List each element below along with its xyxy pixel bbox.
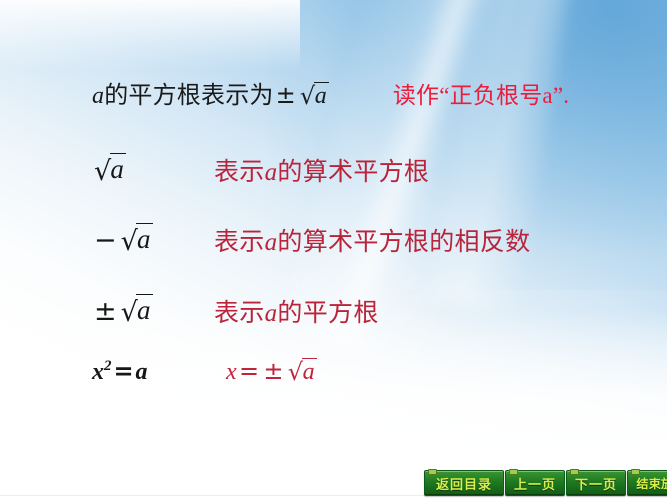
definition-row-negative-root: −√a 表示a的算术平方根的相反数 <box>92 222 662 258</box>
symbol-negative-sqrt-a: −√a <box>92 225 210 256</box>
definition-row-arithmetic-root: √a 表示a的算术平方根 <box>92 152 662 188</box>
equation-rhs: x=±√a <box>226 357 317 386</box>
radical-radicand: a <box>302 358 317 385</box>
definition-row-both-roots: ±√a 表示a的平方根 <box>92 293 662 329</box>
return-to-contents-label: 返回目录 <box>436 474 492 493</box>
description-suffix: 的平方根 <box>277 300 378 327</box>
headline-plusminus: ± <box>274 81 298 109</box>
button-tab-icon <box>631 469 640 475</box>
equation-lhs: x2=a <box>92 357 222 386</box>
equation-rhs-plusminus: ± <box>261 357 285 385</box>
row1-radical: √a <box>92 155 126 186</box>
description-prefix: 表示 <box>214 229 265 256</box>
headline-row: a的平方根表示为±√a 读作“正负根号a”. <box>92 75 652 123</box>
headline-reading-note: 读作“正负根号a”. <box>393 76 569 110</box>
button-tab-icon <box>428 469 437 475</box>
headline-radical: √a <box>298 81 329 110</box>
button-tab-icon <box>509 469 518 475</box>
equation-lhs-variable: x <box>92 359 104 385</box>
end-show-button[interactable]: 结束放映 <box>627 470 667 496</box>
slide-navigation-bar: 返回目录 上一页 下一页 结束放映 <box>424 470 667 496</box>
radical-radicand: a <box>136 294 152 325</box>
next-page-button[interactable]: 下一页 <box>566 470 626 496</box>
description-both-roots: 表示a的平方根 <box>214 293 379 329</box>
radical-radicand: a <box>136 223 152 254</box>
description-suffix: 的算术平方根 <box>277 159 429 186</box>
presentation-slide: a的平方根表示为±√a 读作“正负根号a”. √a 表示a的算术平方根 −√a … <box>0 0 667 500</box>
next-page-label: 下一页 <box>575 474 617 493</box>
radical-radicand: a <box>110 153 126 184</box>
end-show-label: 结束放映 <box>636 475 667 492</box>
description-variable: a <box>265 159 278 186</box>
symbol-minus: − <box>92 225 119 256</box>
description-prefix: 表示 <box>214 300 265 327</box>
headline-statement: a的平方根表示为±√a <box>92 75 329 110</box>
equation-lhs-equals: = <box>111 357 135 385</box>
equation-rhs-radical: √a <box>286 357 317 386</box>
radical-sign-icon: √ <box>94 156 111 187</box>
previous-page-button[interactable]: 上一页 <box>505 470 565 496</box>
radical-radicand: a <box>314 82 329 109</box>
return-to-contents-button[interactable]: 返回目录 <box>424 470 504 496</box>
description-arithmetic-root: 表示a的算术平方根 <box>214 152 429 188</box>
headline-variable: a <box>92 83 104 109</box>
equation-rhs-variable: x <box>226 359 237 385</box>
description-variable: a <box>265 229 278 256</box>
description-negative-root: 表示a的算术平方根的相反数 <box>214 222 530 258</box>
headline-statement-text: 的平方根表示为 <box>104 83 273 109</box>
row3-radical: √a <box>119 296 153 327</box>
symbol-sqrt-a: √a <box>92 155 210 186</box>
description-prefix: 表示 <box>214 159 265 186</box>
symbol-plusminus: ± <box>92 296 119 327</box>
description-suffix: 的算术平方根的相反数 <box>277 229 530 256</box>
symbol-plusminus-sqrt-a: ±√a <box>92 296 210 327</box>
equation-row: x2=a x=±√a <box>92 357 662 386</box>
button-tab-icon <box>570 469 579 475</box>
slide-content: a的平方根表示为±√a 读作“正负根号a”. √a 表示a的算术平方根 −√a … <box>0 0 667 500</box>
row2-radical: √a <box>119 225 153 256</box>
equation-lhs-value: a <box>136 359 148 385</box>
description-variable: a <box>265 300 278 327</box>
equation-rhs-equals: = <box>237 357 261 385</box>
previous-page-label: 上一页 <box>514 474 556 493</box>
